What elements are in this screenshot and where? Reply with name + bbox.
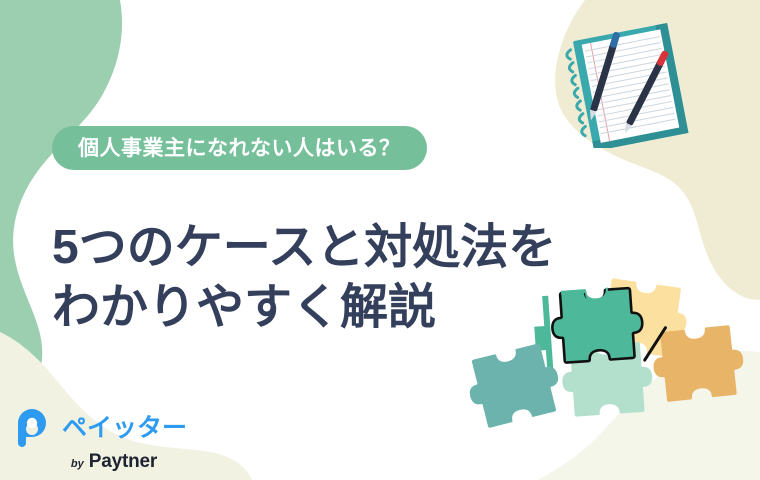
page-title-line-1: 5つのケースと対処法を xyxy=(52,218,556,278)
status-badge: 個人事業主になれない人はいる？ xyxy=(52,126,427,170)
logo-primary-row: ペイッター xyxy=(18,408,218,448)
badge-label: 個人事業主になれない人はいる？ xyxy=(78,138,401,159)
brand-logo: ペイッター by Paytner xyxy=(18,408,218,471)
notebook-illustration xyxy=(556,18,716,148)
logo-wordmark: ペイッター xyxy=(62,416,187,441)
logo-brand-name: Paytner xyxy=(89,452,157,471)
paytner-p-mark-icon xyxy=(18,409,54,447)
logo-by-label: by xyxy=(71,459,84,470)
banner-canvas: 個人事業主になれない人はいる？ 5つのケースと対処法を わかりやすく解説 ペイッ… xyxy=(0,0,760,480)
logo-secondary-row: by Paytner xyxy=(18,452,218,471)
page-title: 5つのケースと対処法を わかりやすく解説 xyxy=(52,218,556,338)
page-title-line-2: わかりやすく解説 xyxy=(52,278,556,338)
